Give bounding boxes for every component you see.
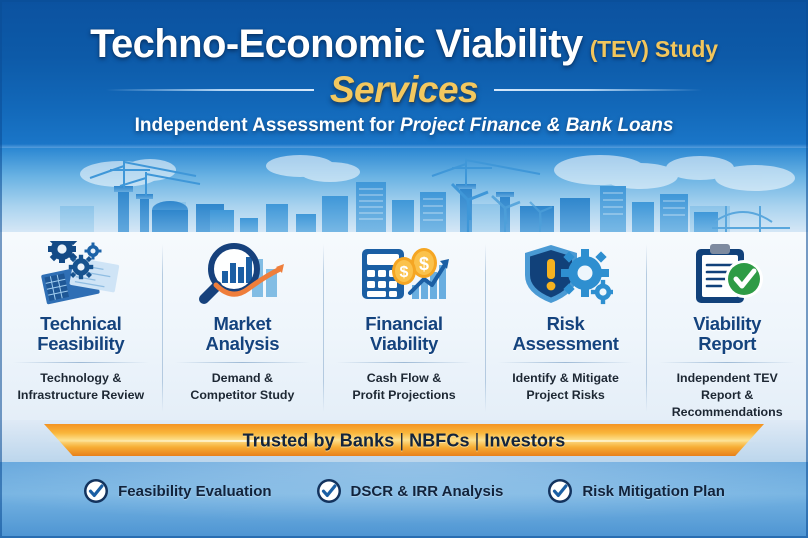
- checklist-label: Risk Mitigation Plan: [582, 483, 725, 500]
- city-skyline-band: [0, 148, 808, 236]
- pillar-title-line1: Viability: [693, 314, 761, 334]
- check-circle-icon: [547, 478, 573, 504]
- pillar-title-line1: Risk: [513, 314, 619, 334]
- page-subtitle: Independent Assessment for Project Finan…: [0, 115, 808, 137]
- pillar-title-line1: Technical: [37, 314, 124, 334]
- checklist-item-feasibility-evaluation[interactable]: Feasibility Evaluation: [83, 478, 271, 504]
- pillar-subtitle: Identify & Mitigate Project Risks: [506, 370, 625, 404]
- footer-checklist: Feasibility Evaluation DSCR & IRR Analys…: [0, 462, 808, 538]
- tev-services-infographic: Techno-Economic Viability(TEV) Study Ser…: [0, 0, 808, 538]
- title-main-text: Techno-Economic Viability: [90, 22, 583, 66]
- trusted-by-text: Trusted by Banks|NBFCs|Investors: [0, 431, 808, 452]
- pillar-title-line2: Assessment: [513, 334, 619, 354]
- pillar-card-technical-feasibility[interactable]: Technical Feasibility Technology & Infra…: [0, 232, 162, 422]
- calculator-coins-growth-icon: $ $: [356, 238, 452, 310]
- clipboard-check-icon: [682, 238, 772, 310]
- pillar-title: Viability Report: [693, 314, 761, 354]
- magnifier-bar-chart-icon: [196, 238, 288, 310]
- pillar-divider: [175, 362, 311, 363]
- pillar-title: Market Analysis: [206, 314, 280, 354]
- checklist-label: DSCR & IRR Analysis: [351, 483, 504, 500]
- header-banner: Techno-Economic Viability(TEV) Study Ser…: [0, 0, 808, 148]
- checklist-item-risk-mitigation-plan[interactable]: Risk Mitigation Plan: [547, 478, 725, 504]
- pillar-subtitle: Technology & Infrastructure Review: [11, 370, 150, 404]
- pillar-subtitle-line2: Infrastructure Review: [17, 387, 144, 404]
- pillar-card-market-analysis[interactable]: Market Analysis Demand & Competitor Stud…: [162, 232, 324, 422]
- pillar-divider: [498, 362, 634, 363]
- pillar-card-financial-viability[interactable]: $ $ Financial Viability Cash Flow & Prof…: [323, 232, 485, 422]
- checklist-label: Feasibility Evaluation: [118, 483, 271, 500]
- ribbon-prefix: Trusted by: [243, 431, 340, 451]
- svg-text:$: $: [419, 254, 429, 274]
- pillar-subtitle-line1: Demand &: [190, 370, 294, 387]
- pillar-subtitle: Independent TEV Report & Recommendations: [646, 370, 808, 421]
- pillar-card-risk-assessment[interactable]: Risk Assessment Identify & Mitigate Proj…: [485, 232, 647, 422]
- pillar-title: Financial Viability: [365, 314, 443, 354]
- pillar-subtitle-line2: Report & Recommendations: [652, 387, 802, 421]
- pillar-title: Technical Feasibility: [37, 314, 124, 354]
- check-circle-icon: [83, 478, 109, 504]
- subtitle-lead-text: Independent Assessment for: [135, 115, 400, 136]
- pillar-title: Risk Assessment: [513, 314, 619, 354]
- pillar-title-line2: Feasibility: [37, 334, 124, 354]
- pillar-title-line2: Viability: [365, 334, 443, 354]
- pillar-title-line2: Report: [693, 334, 761, 354]
- title-services-text: Services: [314, 69, 494, 111]
- ribbon-separator-1: |: [399, 431, 404, 451]
- pillars-row: Technical Feasibility Technology & Infra…: [0, 232, 808, 422]
- pillar-subtitle-line2: Project Risks: [512, 387, 619, 404]
- title-badge-text: (TEV) Study: [590, 36, 718, 62]
- pillar-subtitle: Demand & Competitor Study: [184, 370, 300, 404]
- ribbon-item-banks: Banks: [340, 431, 395, 451]
- skyline-illustration: [0, 148, 808, 236]
- pillar-title-line1: Market: [206, 314, 280, 334]
- pillar-card-viability-report[interactable]: Viability Report Independent TEV Report …: [646, 232, 808, 422]
- pillar-divider: [13, 362, 149, 363]
- pillar-divider: [336, 362, 472, 363]
- pillar-divider: [659, 362, 795, 363]
- trusted-by-ribbon-area: Trusted by Banks|NBFCs|Investors: [0, 420, 808, 462]
- ribbon-item-nbfcs: NBFCs: [409, 431, 470, 451]
- pillar-subtitle-line1: Identify & Mitigate: [512, 370, 619, 387]
- subtitle-emphasis-text: Project Finance & Bank Loans: [400, 115, 673, 136]
- pillar-subtitle: Cash Flow & Profit Projections: [346, 370, 461, 404]
- pillar-subtitle-line1: Cash Flow &: [352, 370, 455, 387]
- title-rule-left: [106, 89, 314, 91]
- services-title-row: Services: [0, 70, 808, 110]
- pillar-title-line1: Financial: [365, 314, 443, 334]
- check-circle-icon: [316, 478, 342, 504]
- pillar-subtitle-line1: Technology &: [17, 370, 144, 387]
- ribbon-separator-2: |: [475, 431, 480, 451]
- pillar-subtitle-line2: Competitor Study: [190, 387, 294, 404]
- svg-text:$: $: [400, 264, 409, 281]
- pillar-subtitle-line1: Independent TEV: [652, 370, 802, 387]
- ribbon-item-investors: Investors: [484, 431, 565, 451]
- pillar-title-line2: Analysis: [206, 334, 280, 354]
- gears-blueprint-icon: [35, 238, 127, 310]
- shield-alert-gears-icon: [519, 238, 613, 310]
- checklist-item-dscr-irr-analysis[interactable]: DSCR & IRR Analysis: [316, 478, 504, 504]
- page-title: Techno-Economic Viability(TEV) Study: [0, 22, 808, 67]
- pillar-subtitle-line2: Profit Projections: [352, 387, 455, 404]
- title-rule-right: [494, 89, 702, 91]
